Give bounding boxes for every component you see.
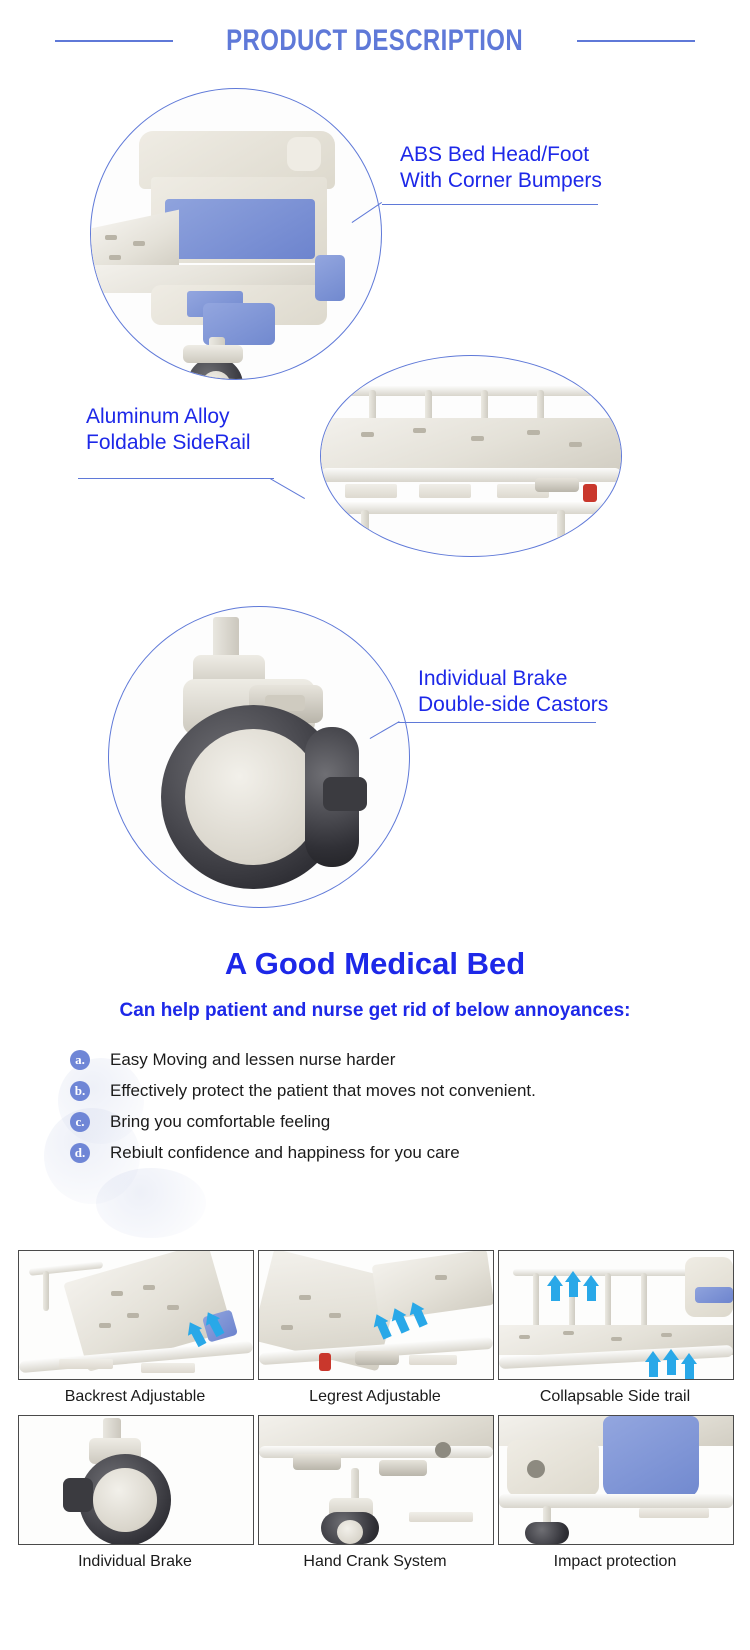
photo-legrest-adjustable <box>258 1250 494 1380</box>
callout-line-1: Individual Brake <box>418 666 608 692</box>
gallery-caption: Legrest Adjustable <box>258 1380 492 1415</box>
callout-line-1: Aluminum Alloy <box>86 404 251 430</box>
callout-line-1: ABS Bed Head/Foot <box>400 142 602 168</box>
section-subheading: Can help patient and nurse get rid of be… <box>0 1000 750 1022</box>
callout-line-2: With Corner Bumpers <box>400 168 602 194</box>
ghost-circle-decoration <box>96 1168 206 1238</box>
gallery-cell-backrest: Backrest Adjustable <box>18 1250 252 1415</box>
feature-gallery: Backrest Adjustable <box>18 1250 732 1580</box>
gallery-cell-individual-brake: Individual Brake <box>18 1415 252 1580</box>
brake-pedal <box>63 1478 93 1512</box>
gallery-cell-impact-protection: Impact protection <box>498 1415 732 1580</box>
list-marker-a: a. <box>70 1050 90 1070</box>
photo-bubble-side-rail <box>320 355 622 557</box>
callout-individual-brake-castors: Individual Brake Double-side Castors <box>418 666 608 718</box>
product-description-page: PRODUCT DESCRIPTION ABS Bed H <box>0 0 750 1650</box>
photo-backrest-adjustable <box>18 1250 254 1380</box>
gallery-caption: Individual Brake <box>18 1545 252 1580</box>
leader-line-bed-head <box>352 196 602 236</box>
list-item: d. Rebiult confidence and happiness for … <box>70 1137 710 1168</box>
list-item-text: Easy Moving and lessen nurse harder <box>110 1050 395 1070</box>
list-item: b. Effectively protect the patient that … <box>70 1075 710 1106</box>
photo-individual-brake <box>18 1415 254 1545</box>
list-item: c. Bring you comfortable feeling <box>70 1106 710 1137</box>
gallery-caption: Collapsable Side trail <box>498 1380 732 1415</box>
gallery-row: Backrest Adjustable <box>18 1250 732 1415</box>
callout-aluminum-alloy-siderail: Aluminum Alloy Foldable SideRail <box>86 404 251 456</box>
gallery-caption: Hand Crank System <box>258 1545 492 1580</box>
gallery-cell-legrest: Legrest Adjustable <box>258 1250 492 1415</box>
gallery-cell-hand-crank: Hand Crank System <box>258 1415 492 1580</box>
leader-line-castor <box>370 716 600 756</box>
photo-hand-crank-system <box>258 1415 494 1545</box>
photo-impact-protection <box>498 1415 734 1545</box>
photo-bubble-castor <box>108 606 410 908</box>
gallery-caption: Backrest Adjustable <box>18 1380 252 1415</box>
benefits-list: a. Easy Moving and lessen nurse harder b… <box>70 1044 710 1168</box>
list-marker-b: b. <box>70 1081 90 1101</box>
list-item-text: Effectively protect the patient that mov… <box>110 1081 536 1101</box>
list-item-text: Bring you comfortable feeling <box>110 1112 330 1132</box>
page-title: PRODUCT DESCRIPTION <box>227 24 524 58</box>
page-header: PRODUCT DESCRIPTION <box>0 18 750 64</box>
list-marker-c: c. <box>70 1112 90 1132</box>
callout-abs-bed-head-foot: ABS Bed Head/Foot With Corner Bumpers <box>400 142 602 194</box>
list-marker-d: d. <box>70 1143 90 1163</box>
list-item: a. Easy Moving and lessen nurse harder <box>70 1044 710 1075</box>
gallery-row: Individual Brake Hand Crank System <box>18 1415 732 1580</box>
header-rule-right <box>577 40 695 42</box>
list-item-text: Rebiult confidence and happiness for you… <box>110 1143 460 1163</box>
gallery-caption: Impact protection <box>498 1545 732 1580</box>
photo-collapsable-side-trail <box>498 1250 734 1380</box>
header-rule-left <box>55 40 173 42</box>
callout-line-2: Foldable SideRail <box>86 430 251 456</box>
gallery-cell-side-rail: Collapsable Side trail <box>498 1250 732 1415</box>
callout-line-2: Double-side Castors <box>418 692 608 718</box>
section-heading-good-medical-bed: A Good Medical Bed <box>0 946 750 982</box>
leader-line-side-rail <box>78 470 314 516</box>
photo-bubble-bed-head <box>90 88 382 380</box>
